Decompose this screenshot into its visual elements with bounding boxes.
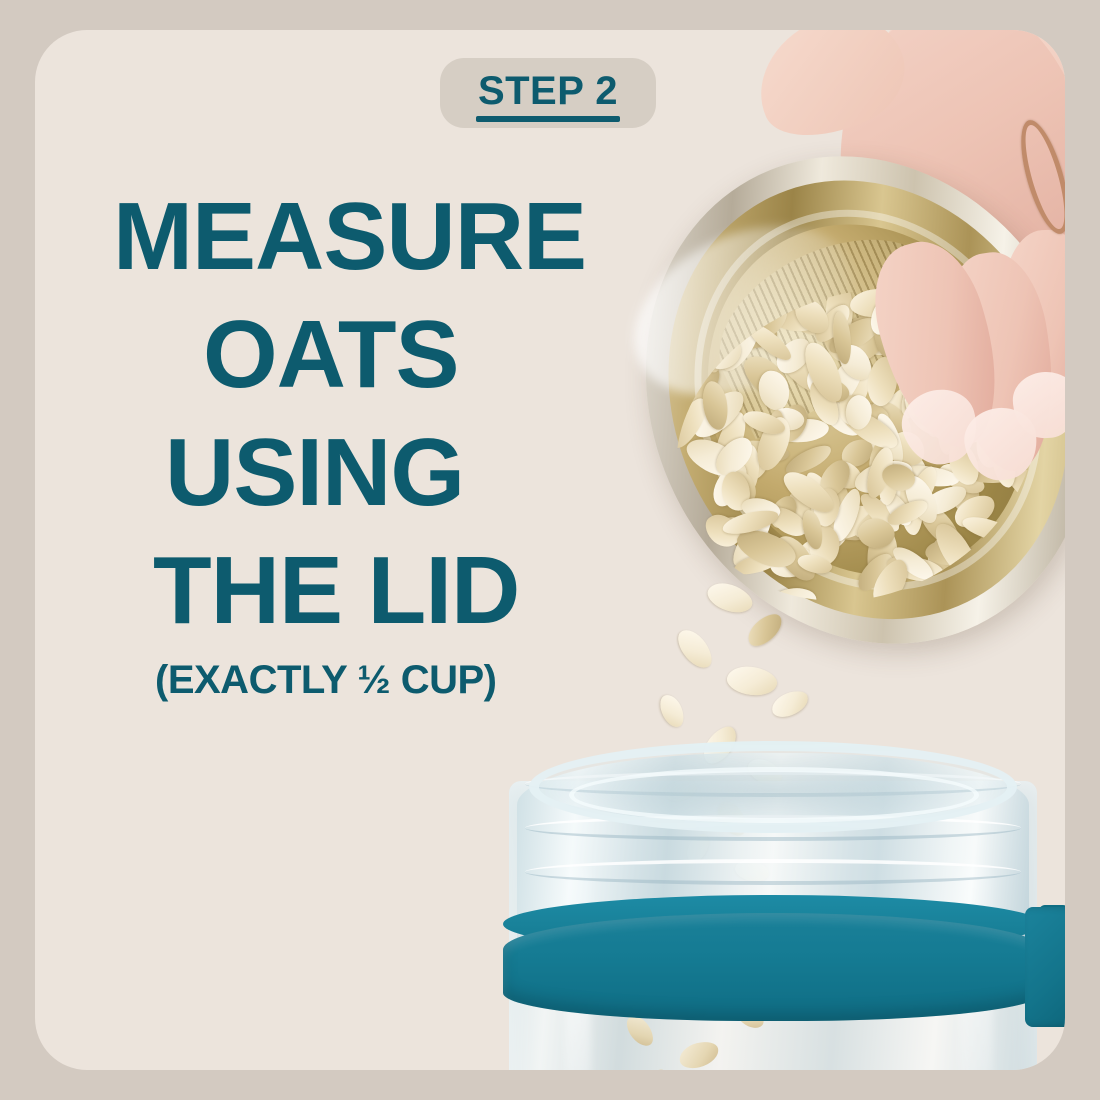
teal-silicone-sleeve (503, 913, 1043, 1021)
oat-flake (843, 401, 890, 435)
oat-flake (638, 352, 685, 388)
jar-mouth-inner-rim (569, 767, 979, 823)
headline-line-2: OATS (55, 308, 575, 402)
oat-flake (1016, 383, 1049, 421)
falling-oat-flake (697, 721, 743, 768)
oat-flake (741, 406, 788, 440)
oat-flake (884, 497, 931, 529)
oat-flake (1014, 423, 1052, 465)
oat-flake (805, 377, 843, 429)
oat-flake (718, 511, 768, 552)
oat-flake (760, 409, 789, 463)
oat-flake (914, 498, 966, 555)
oat-flake (700, 507, 745, 553)
oat-flake (924, 303, 954, 360)
oat-flake (868, 310, 918, 359)
oat-flake (921, 379, 949, 438)
oat-flake (904, 262, 947, 293)
sleeve-tab-notch (1039, 905, 1065, 931)
finger-middle (936, 246, 1065, 478)
oat-flake (982, 408, 1030, 439)
oat-flake (898, 324, 951, 384)
oat-flake (838, 311, 895, 342)
sleeve-tab-handle (1025, 907, 1065, 1027)
oat-flake (887, 426, 930, 472)
oat-pile-in-lid (632, 237, 1065, 654)
oat-flake (901, 388, 956, 436)
oat-flake (894, 376, 952, 430)
oat-flake (988, 387, 1053, 424)
oat-flake (802, 467, 849, 525)
headline-line-3: USING (55, 426, 575, 520)
step-underline (476, 116, 620, 122)
oat-flake (702, 335, 744, 373)
lid-basin (650, 170, 1065, 629)
finger-ring (1000, 228, 1065, 431)
oat-flake (764, 492, 803, 533)
oat-flake (860, 423, 900, 465)
oat-flake (873, 411, 908, 467)
oat-flake (771, 337, 835, 402)
oat-flake (770, 400, 814, 447)
oat-flake (945, 286, 979, 338)
oat-flake (961, 395, 983, 441)
jar-highlight (959, 865, 993, 1070)
oat-flake (911, 266, 956, 314)
oat-flake (900, 472, 942, 528)
oat-flake (720, 507, 780, 538)
oat-flake (921, 526, 965, 577)
oat-flake (806, 473, 849, 518)
oat-flake (930, 517, 984, 584)
headline-line-4: THE LID (55, 544, 575, 638)
oat-flake (950, 490, 1000, 532)
oat-flake (896, 462, 961, 491)
oat-flake (935, 397, 967, 457)
oat-flake (790, 292, 835, 340)
oat-flake (666, 394, 714, 452)
oat-flake (726, 508, 779, 571)
oat-flake (916, 289, 976, 321)
oat-flake (721, 465, 761, 509)
oat-flake (707, 408, 753, 474)
jar-mouth (529, 741, 1017, 833)
oat-flake (955, 367, 993, 419)
lid-highlight (606, 192, 880, 429)
oat-flake (811, 473, 852, 514)
oat-flake (782, 441, 835, 479)
oat-flake (1003, 335, 1037, 383)
oat-flake (850, 289, 906, 318)
oat-flake (740, 494, 783, 525)
lid-groove (632, 151, 1065, 649)
oat-flake-in-jar (623, 1011, 658, 1050)
oat-flake (952, 254, 997, 298)
falling-oat-flake (768, 687, 811, 721)
oat-flake (842, 393, 875, 432)
oat-flake (918, 481, 970, 519)
oat-flake (863, 354, 902, 409)
oat-flake (950, 478, 983, 515)
oat-flake (953, 413, 990, 446)
oat-flake (899, 472, 922, 536)
oat-flake (935, 457, 988, 500)
oat-flake (921, 354, 959, 407)
oat-flake (937, 328, 980, 368)
oat-flake (664, 353, 703, 382)
oat-flake (819, 500, 879, 545)
falling-oats (595, 575, 915, 905)
oat-flake (1041, 418, 1065, 471)
hand-knuckles (854, 30, 1065, 154)
oat-flake (813, 391, 866, 442)
oat-flake (864, 525, 901, 588)
oat-flake-in-jar (677, 1039, 722, 1070)
oat-flake-in-jar (702, 983, 744, 1020)
oat-flake (711, 309, 767, 376)
oat-flake (800, 357, 843, 401)
oat-flake (805, 523, 845, 569)
oat-flake (701, 380, 729, 431)
oat-flake (818, 351, 871, 415)
oat-flake (957, 378, 1007, 444)
oat-flake (794, 529, 844, 563)
falling-oat-flake (682, 831, 714, 866)
oat-flake (813, 374, 853, 408)
oat-flake (866, 554, 916, 612)
oat-flake (1022, 387, 1065, 436)
oat-flake (923, 237, 972, 291)
oat-flake (854, 513, 898, 554)
oat-flake (975, 265, 1028, 319)
oat-flake (863, 323, 903, 359)
oat-flake (924, 243, 972, 290)
oat-flake (915, 530, 974, 594)
oat-flake (1003, 460, 1062, 514)
oat-flake (834, 338, 877, 385)
oat-flake (769, 545, 815, 579)
oat-flake (837, 435, 877, 470)
oat-flake (750, 413, 798, 474)
oat-flake (973, 414, 1007, 469)
finger-index (858, 229, 1018, 460)
oat-flake (863, 393, 919, 451)
oat-flake (837, 393, 867, 428)
oat-flake (1018, 379, 1060, 429)
oat-flake (1012, 400, 1054, 450)
oat-flake (915, 238, 977, 271)
oat-flake (862, 445, 900, 501)
oat-flake (770, 333, 818, 379)
jar-thread (525, 771, 1021, 797)
oat-flake (967, 335, 1031, 383)
oat-flake (781, 484, 835, 548)
oat-flake (895, 368, 930, 419)
falling-oat-flake (673, 624, 718, 674)
falling-oat-flake (742, 609, 787, 651)
oat-flake (876, 462, 902, 507)
oat-flake (733, 437, 790, 467)
oat-flake (986, 310, 1032, 344)
oat-flake (984, 267, 1031, 329)
oat-flake (910, 301, 931, 339)
oat-flake (818, 320, 860, 368)
oat-flake (681, 431, 745, 485)
oat-flake (802, 513, 857, 563)
falling-oat-flake (713, 796, 750, 840)
oat-flake (940, 537, 982, 580)
oat-flake (799, 338, 848, 407)
oat-flake (771, 529, 822, 588)
oat-flake (701, 336, 722, 374)
mason-jar-lid (565, 81, 1065, 719)
oat-flake (983, 314, 1021, 361)
falling-oat-flake (663, 778, 698, 803)
oat-flake (866, 291, 903, 338)
lid-rim (595, 113, 1065, 687)
oat-flake (987, 424, 1019, 489)
jar-thread (525, 815, 1021, 841)
oat-flake (1041, 426, 1065, 473)
headline-block: MEASURE OATS USING THE LID (EXACTLY ½ CU… (55, 190, 575, 700)
jar-body (509, 781, 1037, 1070)
oat-flake (984, 392, 1026, 434)
thumb (739, 30, 922, 158)
oat-flake (825, 456, 866, 496)
oat-flake (826, 365, 878, 431)
step-badge: STEP 2 (440, 58, 656, 128)
oat-flake (897, 248, 940, 291)
oat-flake (774, 418, 829, 443)
oat-flake (770, 404, 806, 434)
oat-flake (925, 248, 978, 302)
oat-flake (810, 301, 856, 347)
oat-flake (766, 587, 818, 620)
oat-flake (866, 329, 923, 366)
falling-oat-flake (725, 662, 780, 700)
oat-flake (899, 377, 959, 430)
oat-flake (778, 464, 838, 519)
headline-subline: (EXACTLY ½ CUP) (55, 660, 575, 700)
falling-oat-flake (657, 692, 687, 731)
oat-flake (827, 486, 866, 545)
jar-neck (517, 753, 1029, 953)
oat-flake (997, 321, 1060, 385)
jar-highlight (565, 865, 591, 1070)
glass-mason-jar (473, 745, 1065, 1070)
oat-flake (856, 488, 903, 537)
oat-flake (899, 344, 965, 398)
content-panel: STEP 2 MEASURE OATS USING THE LID (EXACT… (35, 30, 1065, 1070)
oat-flake (639, 371, 676, 414)
oat-flake (745, 318, 796, 366)
step-badge-inner: STEP 2 (478, 71, 618, 115)
oat-flake (791, 599, 823, 618)
oat-flake (881, 335, 921, 382)
oat-flake-in-jar (650, 966, 699, 1007)
oat-flake (885, 551, 946, 587)
oat-flake (973, 357, 1020, 405)
oat-flake (860, 320, 896, 345)
oat-flake (686, 384, 752, 444)
oat-flake (722, 471, 752, 511)
oat-flake (778, 301, 833, 343)
oat-flake (809, 486, 844, 529)
oat-flake (850, 493, 916, 544)
oat-flake (1005, 345, 1065, 394)
oat-flake (738, 347, 795, 405)
oat-flake (733, 522, 801, 576)
sleeve-top-edge (503, 895, 1043, 953)
oat-flake (757, 369, 790, 411)
oat-flake (838, 401, 903, 456)
oat-flake (765, 500, 811, 542)
hand (635, 30, 1065, 510)
oat-flake (924, 537, 972, 567)
headline-line-1: MEASURE (55, 190, 575, 284)
oat-flake (979, 333, 1017, 395)
oat-flake-in-jar (732, 1000, 767, 1034)
oat-flake (706, 458, 755, 512)
falling-oat-flake (744, 753, 786, 791)
oat-flake (981, 325, 1011, 379)
jar-thread (525, 859, 1021, 885)
oat-flake (775, 308, 826, 332)
oat-flake (964, 455, 1026, 484)
oat-flake (941, 355, 1003, 398)
oat-flake (871, 303, 892, 357)
oat-flake (824, 279, 855, 341)
oat-flake (745, 299, 794, 347)
falling-oat-flake (733, 856, 772, 886)
falling-oat-flake (704, 577, 757, 619)
oat-flake-in-jar (635, 1065, 675, 1070)
oat-flake (852, 548, 900, 595)
oat-flake (721, 604, 772, 645)
oat-flake (945, 439, 982, 488)
oat-flake (851, 457, 915, 498)
oat-flake (682, 364, 726, 413)
oat-flake (864, 435, 899, 482)
poster-canvas: STEP 2 MEASURE OATS USING THE LID (EXACT… (0, 0, 1100, 1100)
oat-flake (880, 488, 915, 529)
step-label: STEP 2 (478, 71, 618, 111)
oat-flake (989, 303, 1033, 368)
oat-flake (732, 549, 783, 577)
oat-flake (717, 323, 778, 350)
oat-flake (889, 541, 937, 586)
fingernail (1012, 371, 1065, 439)
fingernail (894, 381, 986, 473)
oat-flake (795, 551, 833, 578)
oat-flake (899, 381, 952, 442)
fingernail (960, 403, 1041, 484)
oat-flake (878, 457, 920, 497)
rose-gold-ring (1011, 115, 1065, 238)
oat-flake (983, 334, 1014, 397)
oat-flake (740, 444, 762, 492)
oat-flake (847, 318, 898, 368)
oat-flake (824, 312, 886, 360)
oat-flake (889, 445, 932, 490)
oat-flake (808, 504, 873, 548)
oat-flake (974, 417, 1009, 458)
hand-palm (808, 30, 1065, 352)
lid-outer-ring (565, 81, 1065, 719)
oat-flake (801, 508, 825, 551)
oat-flake (831, 310, 853, 364)
oat-flake (865, 474, 920, 542)
oat-flake (879, 377, 938, 428)
oat-flake (708, 431, 759, 480)
lid-knurling (693, 206, 968, 439)
oat-flake (902, 463, 943, 516)
oat-flake (960, 512, 1021, 549)
oat-flake (813, 455, 857, 501)
oat-flake (1023, 503, 1057, 528)
oat-flake (732, 438, 777, 486)
